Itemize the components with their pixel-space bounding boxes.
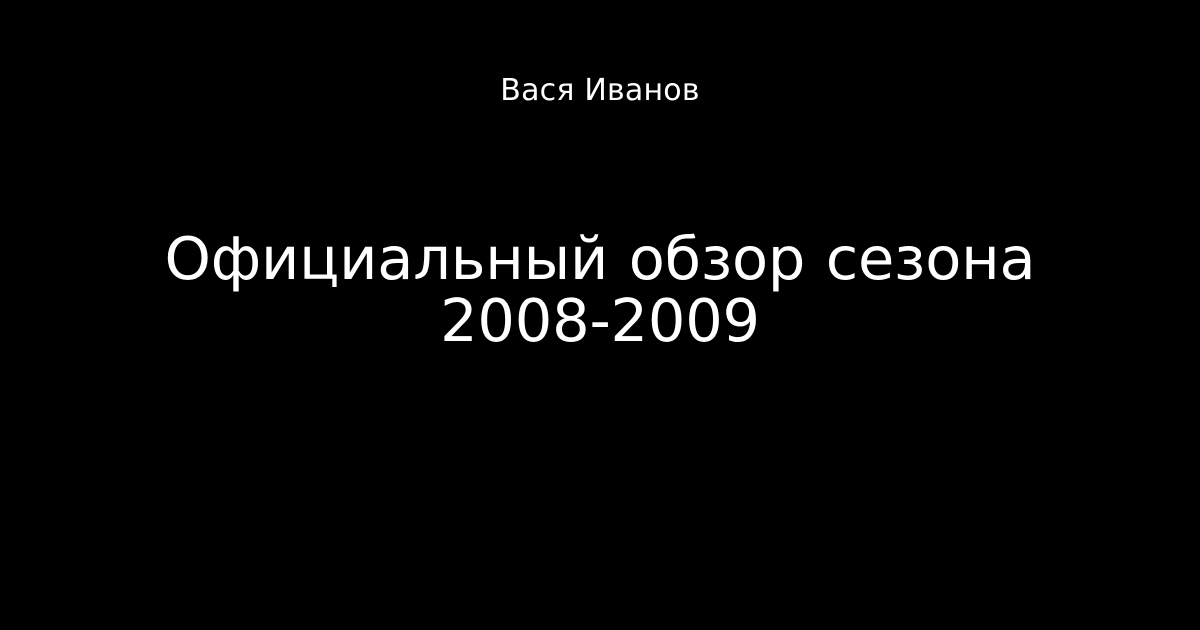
title-block: Официальный обзор сезона 2008-2009 [100,228,1100,352]
page-title: Официальный обзор сезона 2008-2009 [100,228,1100,352]
author-name: Вася Иванов [0,73,1200,109]
cover-canvas: Вася Иванов Официальный обзор сезона 200… [0,0,1200,630]
